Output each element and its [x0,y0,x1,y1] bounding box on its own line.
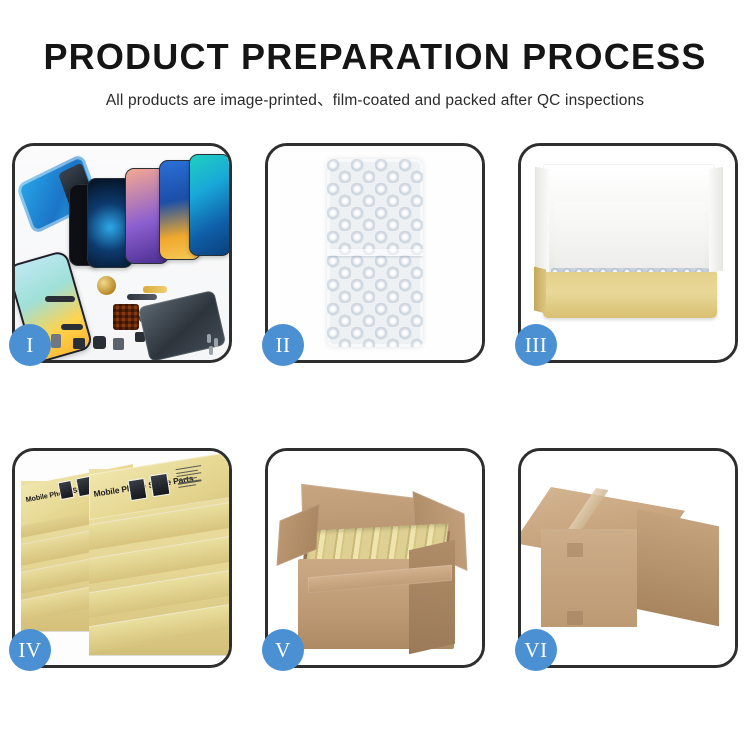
step-badge-2: II [262,324,304,366]
step-6-image [521,451,735,665]
box-screen-image-3 [127,478,147,501]
step-panel-5: V [265,448,485,668]
step-panel-1: I [12,143,232,363]
box-screen-image-4 [149,473,170,498]
carton-handle-tab-top [567,543,583,557]
step-badge-5: V [262,629,304,671]
step-panel-4: Mobile Phone Spare Parts Mobile Phone Sp… [12,448,232,668]
flex-cable-gold [143,286,167,293]
box-spec-lines-front [175,465,204,490]
step-5-image [268,451,482,665]
flex-cable-dark [127,294,157,300]
step-badge-3: III [515,324,557,366]
foam-sheet-graphic [555,202,705,268]
earpiece-mesh-part [45,296,75,302]
sealed-carton-graphic [541,487,719,635]
page-title: PRODUCT PREPARATION PROCESS [0,36,750,78]
page-subtitle: All products are image-printed、film-coat… [0,88,750,110]
header: PRODUCT PREPARATION PROCESS All products… [0,0,750,110]
kraft-tray-graphic [543,272,717,318]
step-panel-3: III [518,143,738,363]
small-bar-part [61,324,83,330]
screws-graphic [207,334,223,356]
sim-tray-part [51,334,61,348]
vibrator-part [93,336,106,349]
phone-5 [189,154,229,256]
process-steps-grid: I II III [12,143,738,668]
camera-module-part [73,338,85,349]
product-preparation-infographic: PRODUCT PREPARATION PROCESS All products… [0,0,750,750]
carton-handle-tab-bottom [567,611,583,625]
speaker-coil-part [97,276,116,295]
step-panel-2: II [265,143,485,363]
box-stack-graphic: Mobile Phone Spare Parts Mobile Phone Sp… [19,459,229,663]
step-4-image: Mobile Phone Spare Parts Mobile Phone Sp… [15,451,229,665]
step-2-image [268,146,482,360]
step-badge-4: IV [9,629,51,671]
phone-lineup-graphic [67,154,229,272]
bubble-wrap-graphic [327,159,423,347]
button-part [113,338,124,350]
step-1-image [15,146,229,360]
carton-side-face [637,509,719,626]
carton-front-face [541,529,637,627]
step-badge-6: VI [515,629,557,671]
step-badge-1: I [9,324,51,366]
step-3-image [521,146,735,360]
step-panel-6: VI [518,448,738,668]
chip-grid-part [113,304,139,330]
